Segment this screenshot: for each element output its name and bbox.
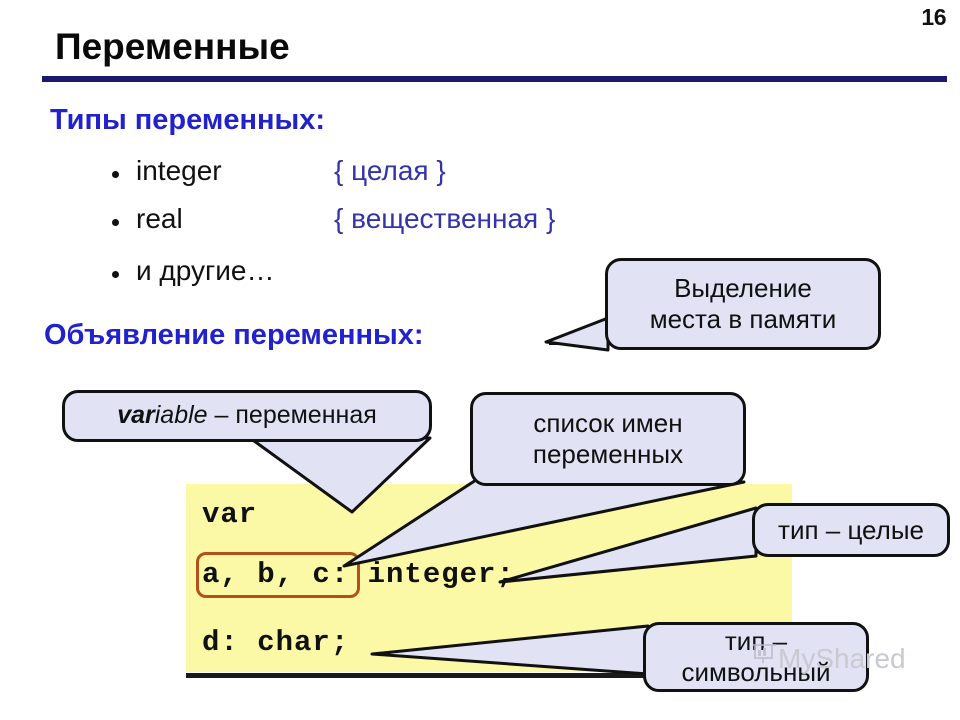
watermark-text: MyShared: [778, 643, 906, 675]
type-note: { вещественная }: [334, 203, 555, 235]
callout-memory: Выделение места в памяти: [605, 258, 881, 350]
variable-names-highlight-box: [196, 552, 360, 598]
type-name: и другие…: [136, 255, 274, 287]
callout-names: список имен переменных: [470, 392, 746, 486]
callout-memory-text: Выделение места в памяти: [640, 273, 847, 334]
types-heading: Типы переменных:: [50, 104, 325, 137]
code-line: var: [202, 498, 257, 531]
type-name: real: [136, 203, 183, 235]
type-name: integer: [136, 155, 222, 187]
callout-variable-prefix-bold: var: [117, 401, 155, 429]
bullet-icon: [112, 219, 119, 226]
bullet-icon: [112, 171, 119, 178]
callout-variable: variable – переменная: [62, 390, 432, 442]
presentation-icon: [752, 641, 778, 665]
type-note: { целая }: [334, 155, 446, 187]
callout-integer-type-text: тип – целые: [768, 515, 934, 546]
callout-names-line1: список имен: [533, 408, 682, 438]
declaration-heading: Объявление переменных:: [44, 319, 424, 352]
callout-variable-prefix-rest: iable: [155, 401, 208, 429]
page-title: Переменные: [55, 26, 290, 68]
callout-names-line2: переменных: [533, 439, 683, 469]
title-divider: [42, 76, 947, 82]
callout-integer-type: тип – целые: [752, 503, 950, 557]
declaration-connector-line: [549, 341, 611, 345]
callout-names-text: список имен переменных: [523, 408, 693, 469]
callout-memory-line1: Выделение: [674, 273, 812, 303]
bullet-icon: [112, 271, 119, 278]
callout-memory-line2: места в памяти: [650, 304, 837, 334]
callout-variable-suffix: – переменная: [208, 401, 377, 429]
page-number: 16: [921, 4, 946, 31]
callout-variable-text: variable – переменная: [107, 401, 387, 431]
slide-canvas: 16 Переменные Типы переменных: integer {…: [0, 0, 960, 720]
code-line: d: char;: [202, 626, 349, 659]
